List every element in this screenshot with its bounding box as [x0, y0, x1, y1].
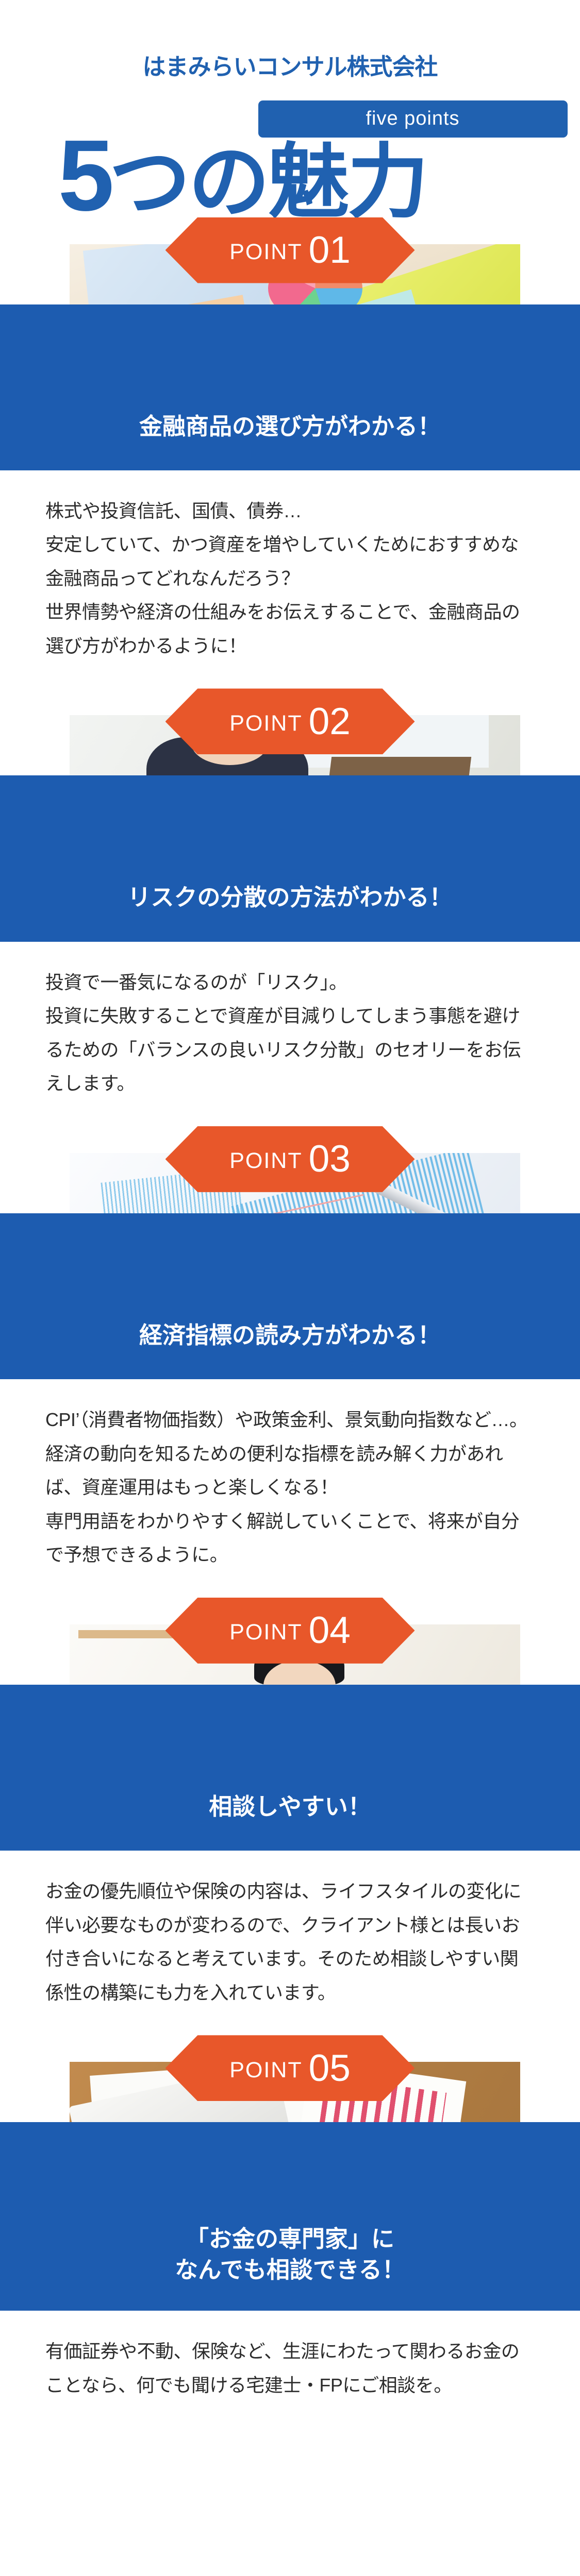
point-badge-label: POINT	[229, 1620, 302, 1645]
point-section-05: POINT05「お金の専門家」になんでも相談できる！有価証券や不動、保険など、生…	[0, 2035, 580, 2416]
point-body: お金の優先順位や保険の内容は、ライフスタイルの変化に伴い必要なものが変わるので、…	[0, 1851, 580, 2024]
point-section-03: POINT03経済指標の読み方がわかる！CPI’（消費者物価指数）や政策金利、景…	[0, 1126, 580, 1586]
point-badge-label: POINT	[229, 2058, 302, 2083]
point-banner: 相談しやすい！	[0, 1685, 580, 1851]
hero-number: 5	[58, 119, 109, 232]
banner-title-line1: 金融商品の選び方がわかる！	[139, 413, 441, 439]
page-title: 5つの魅力	[58, 125, 427, 226]
point-banner: 経済指標の読み方がわかる！	[0, 1213, 580, 1379]
point-body: 投資で一番気になるのが「リスク」。投資に失敗することで資産が目減りしてしまう事態…	[0, 942, 580, 1115]
page-header: はまみらいコンサル株式会社 five points 5つの魅力	[0, 0, 580, 206]
point-badge-number: 02	[309, 703, 351, 740]
point-section-01: POINT01金融商品の選び方がわかる！株式や投資信託、国債、債券…安定していて…	[0, 217, 580, 677]
point-badge-label: POINT	[229, 240, 302, 265]
banner-title-line1: 相談しやすい！	[209, 1793, 371, 1820]
point-title: 金融商品の選び方がわかる！	[0, 382, 580, 470]
point-badge: POINT05	[165, 2035, 415, 2101]
point-title: リスクの分散の方法がわかる！	[0, 853, 580, 941]
banner-title-line2: なんでも相談できる！	[175, 2257, 405, 2283]
point-body: 株式や投資信託、国債、債券…安定していて、かつ資産を増やしていくためにおすすめな…	[0, 470, 580, 677]
banner-title-line1: リスクの分散の方法がわかる！	[127, 884, 452, 910]
points-list: POINT01金融商品の選び方がわかる！株式や投資信託、国債、債券…安定していて…	[0, 217, 580, 2417]
point-badge: POINT01	[165, 217, 415, 283]
company-name: はまみらいコンサル株式会社	[0, 54, 580, 80]
hero-title-block: five points 5つの魅力	[0, 100, 580, 206]
point-badge-label: POINT	[229, 711, 302, 736]
point-body: CPI’（消費者物価指数）や政策金利、景気動向指数など…。経済の動向を知るための…	[0, 1379, 580, 1586]
point-badge: POINT02	[165, 688, 415, 754]
point-badge-number: 05	[309, 2049, 351, 2087]
point-badge: POINT03	[165, 1126, 415, 1192]
point-banner: 金融商品の選び方がわかる！	[0, 304, 580, 470]
bottom-spacer	[0, 2416, 580, 2430]
point-badge-number: 04	[309, 1612, 351, 1649]
point-title: 「お金の専門家」になんでも相談できる！	[0, 2200, 580, 2311]
banner-title-line1: 経済指標の読み方がわかる！	[139, 1322, 441, 1348]
point-banner: リスクの分散の方法がわかる！	[0, 775, 580, 941]
point-banner: 「お金の専門家」になんでも相談できる！	[0, 2122, 580, 2311]
point-badge-label: POINT	[229, 1148, 302, 1174]
point-title: 相談しやすい！	[0, 1762, 580, 1851]
point-badge-number: 03	[309, 1140, 351, 1178]
point-badge: POINT04	[165, 1598, 415, 1664]
point-section-04: POINT04相談しやすい！お金の優先順位や保険の内容は、ライフスタイルの変化に…	[0, 1598, 580, 2024]
point-badge-number: 01	[309, 231, 351, 269]
hero-text: つの魅力	[109, 137, 427, 228]
point-body: 有価証券や不動、保険など、生涯にわたって関わるお金のことなら、何でも聞ける宅建士…	[0, 2311, 580, 2416]
point-title: 経済指標の読み方がわかる！	[0, 1291, 580, 1379]
point-section-02: POINT02リスクの分散の方法がわかる！投資で一番気になるのが「リスク」。投資…	[0, 688, 580, 1114]
banner-title-line1: 「お金の専門家」に	[186, 2226, 394, 2252]
